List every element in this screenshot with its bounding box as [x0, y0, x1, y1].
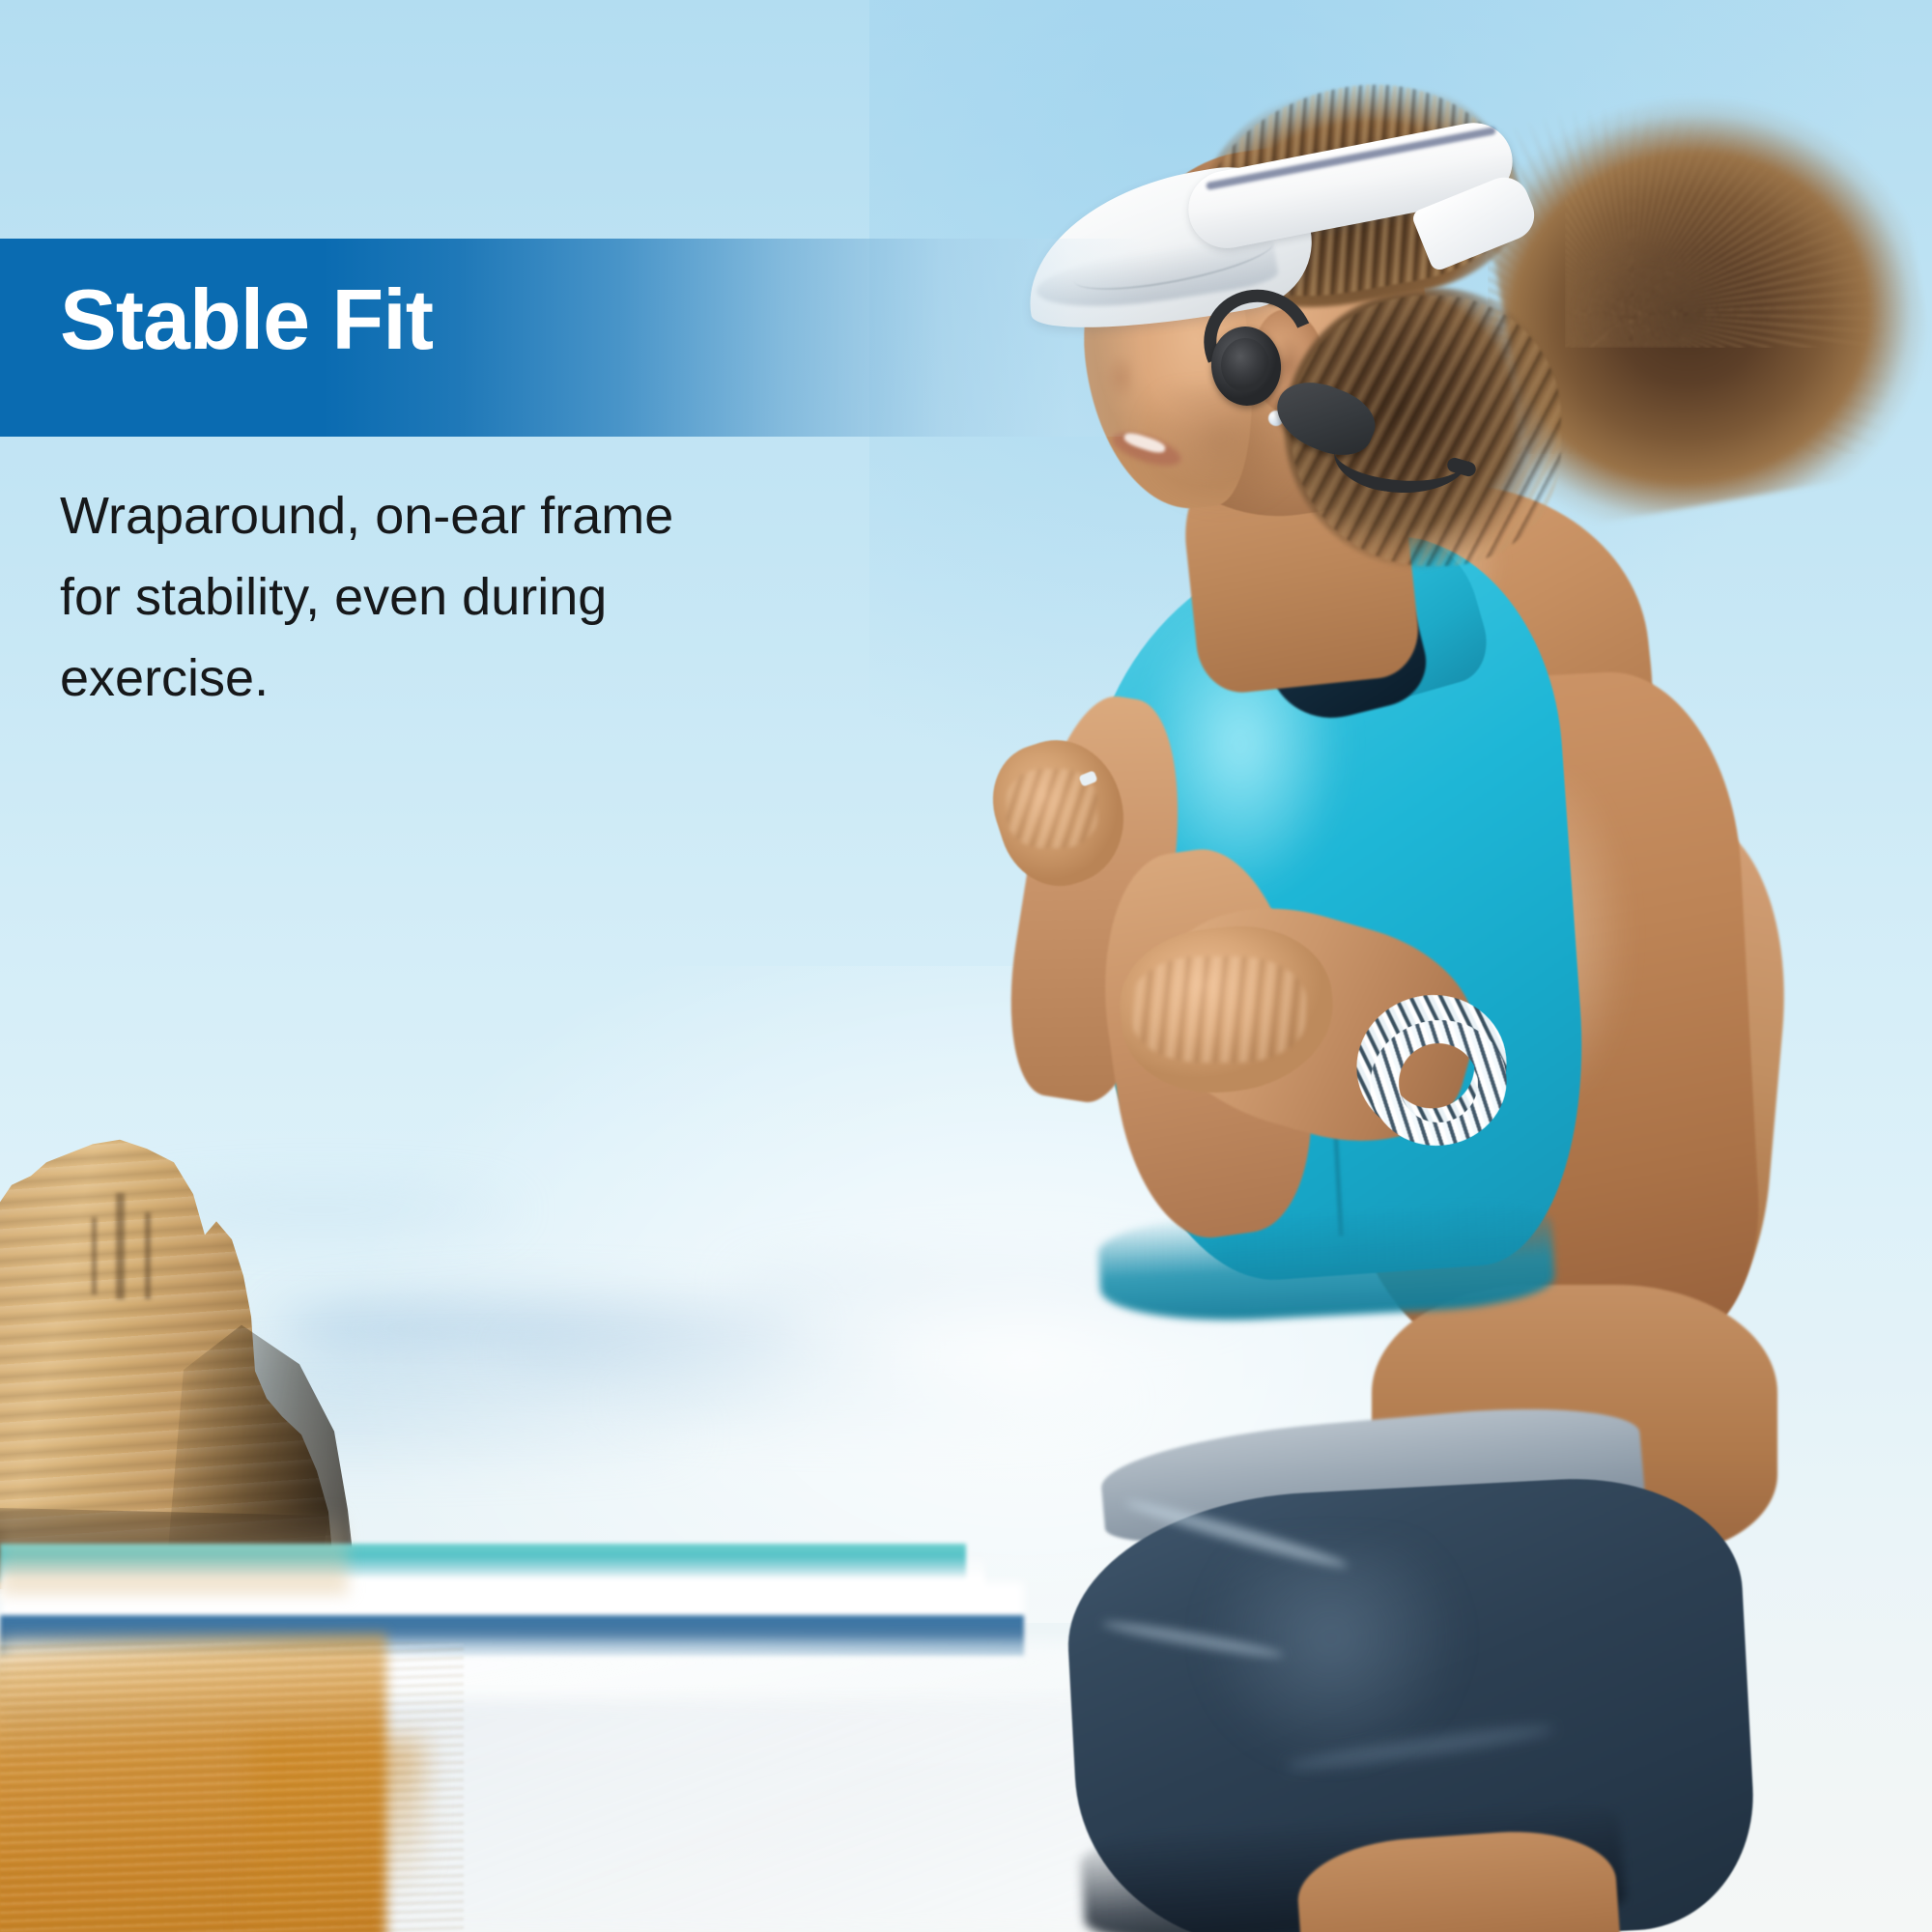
product-feature-card: Stable Fit Wraparound, on-ear frame for … — [0, 0, 1932, 1932]
hair-wisps — [1565, 58, 1932, 348]
near-hand-fingers — [1132, 956, 1306, 1063]
shorts-highlight — [1207, 1546, 1517, 1835]
headphone-pod-face — [1221, 338, 1269, 392]
feature-description: Wraparound, on-ear frame for stability, … — [60, 475, 736, 719]
page-title: Stable Fit — [60, 277, 433, 362]
